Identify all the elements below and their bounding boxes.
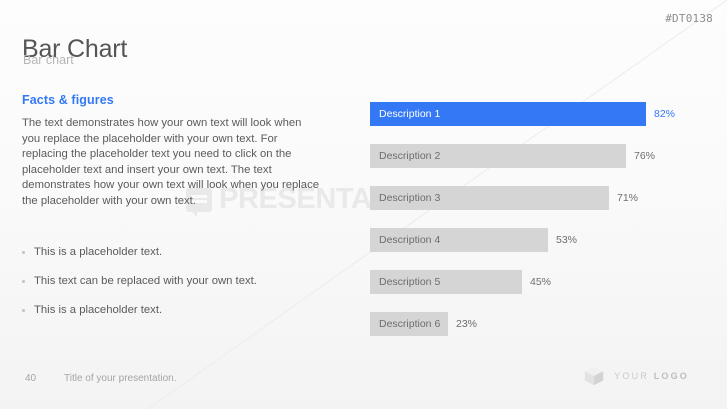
bar[interactable]: Description 1 <box>370 102 646 126</box>
table-row[interactable]: Description 4 53% <box>370 228 700 252</box>
facts-section: Facts & figures The text demonstrates ho… <box>22 93 337 210</box>
facts-heading: Facts & figures <box>22 93 337 107</box>
footer-title: Title of your presentation. <box>64 373 176 384</box>
bar[interactable]: Description 3 <box>370 186 609 210</box>
list-item: This text can be replaced with your own … <box>20 274 335 289</box>
bar[interactable]: Description 6 <box>370 312 448 336</box>
table-row[interactable]: Description 2 76% <box>370 144 700 168</box>
cube-icon <box>583 365 605 387</box>
bar[interactable]: Description 2 <box>370 144 626 168</box>
list-item: This is a placeholder text. <box>20 303 335 318</box>
page-number: 40 <box>25 373 36 384</box>
list-item-label: This text can be replaced with your own … <box>34 275 257 287</box>
bar-value: 82% <box>654 108 675 120</box>
bar-value: 23% <box>456 318 477 330</box>
bar-label: Description 6 <box>370 318 440 330</box>
bar-label: Description 2 <box>370 150 440 162</box>
bar-value: 76% <box>634 150 655 162</box>
facts-paragraph: The text demonstrates how your own text … <box>22 116 322 210</box>
logo: YOUR LOGO <box>583 365 689 387</box>
bar-label: Description 4 <box>370 234 440 246</box>
bullet-list: This is a placeholder text. This text ca… <box>20 245 335 332</box>
bar[interactable]: Description 5 <box>370 270 522 294</box>
bar-label: Description 3 <box>370 192 440 204</box>
bar-label: Description 5 <box>370 276 440 288</box>
logo-word-1: YOUR <box>614 371 649 381</box>
bullet-dot-icon <box>22 251 25 254</box>
bar[interactable]: Description 4 <box>370 228 548 252</box>
slide-code: #DT0138 <box>665 12 713 25</box>
list-item-label: This is a placeholder text. <box>34 304 162 316</box>
table-row[interactable]: Description 1 82% <box>370 102 700 126</box>
logo-text: YOUR LOGO <box>614 371 689 381</box>
bar-value: 53% <box>556 234 577 246</box>
logo-word-2: LOGO <box>654 371 689 381</box>
list-item: This is a placeholder text. <box>20 245 335 260</box>
list-item-label: This is a placeholder text. <box>34 246 162 258</box>
slide: PRESENTATIONLOAD #DT0138 Bar Chart Bar c… <box>0 0 727 409</box>
bullet-dot-icon <box>22 309 25 312</box>
table-row[interactable]: Description 3 71% <box>370 186 700 210</box>
page-subtitle: Bar chart <box>23 53 74 67</box>
bar-chart: Description 1 82% Description 2 76% Desc… <box>370 102 700 354</box>
table-row[interactable]: Description 5 45% <box>370 270 700 294</box>
table-row[interactable]: Description 6 23% <box>370 312 700 336</box>
bar-label: Description 1 <box>370 108 440 120</box>
bar-value: 71% <box>617 192 638 204</box>
bar-value: 45% <box>530 276 551 288</box>
bullet-dot-icon <box>22 280 25 283</box>
